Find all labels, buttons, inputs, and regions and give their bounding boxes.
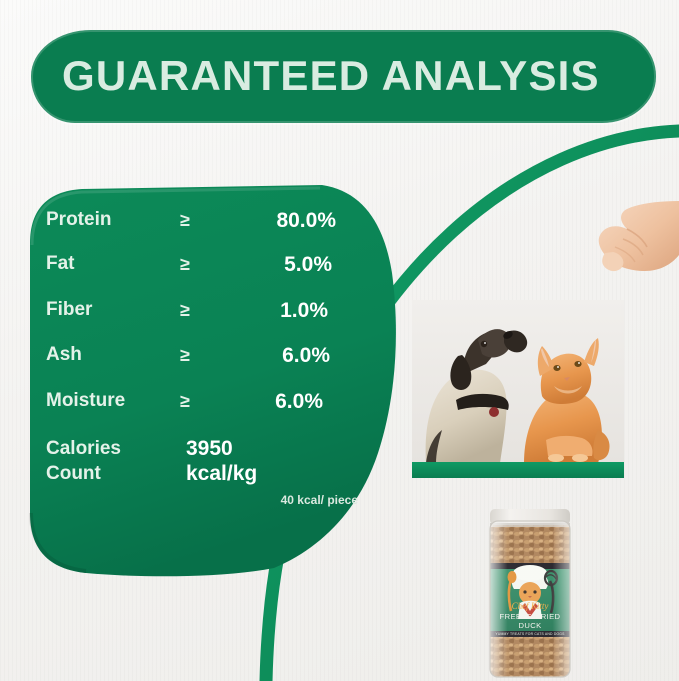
human-hand-icon — [575, 193, 679, 289]
guaranteed-analysis-panel: Protein ≥ 80.0% Fat ≥ 5.0% Fiber ≥ 1.0% … — [22, 183, 400, 578]
calories-label-line2: Count — [46, 461, 166, 486]
green-shelf-bar — [412, 462, 624, 478]
calories-label-line1: Calories — [46, 436, 166, 461]
infographic-canvas: GUARANTEED ANALYSIS Protein ≥ 80.0% Fat … — [0, 0, 679, 681]
table-row: Ash ≥ 6.0% — [46, 344, 376, 374]
product-jar: Chef Kitty FREEZE-DRIED DUCK YUMMY TREAT… — [484, 507, 576, 681]
calories-value-line1: 3950 — [186, 436, 336, 461]
calories-value: 3950 kcal/kg — [186, 436, 336, 486]
nutrient-value: 5.0% — [46, 253, 332, 277]
nutrient-value: 1.0% — [46, 299, 328, 323]
nutrient-value: 6.0% — [46, 390, 323, 414]
calories-value-line2: kcal/kg — [186, 461, 336, 486]
calories-row: Calories Count 3950 kcal/kg 40 kcal/ pie… — [46, 436, 376, 526]
page-title: GUARANTEED ANALYSIS — [62, 47, 642, 105]
nutrient-value: 80.0% — [46, 209, 336, 233]
calories-label: Calories Count — [46, 436, 166, 486]
table-row: Moisture ≥ 6.0% — [46, 390, 376, 420]
table-row: Fiber ≥ 1.0% — [46, 299, 376, 329]
nutrient-value: 6.0% — [46, 344, 330, 368]
table-row: Fat ≥ 5.0% — [46, 253, 376, 283]
dog-and-cat-photo — [412, 300, 624, 463]
calories-per-piece-note: 40 kcal/ piece — [186, 493, 358, 507]
nutrient-rows: Protein ≥ 80.0% Fat ≥ 5.0% Fiber ≥ 1.0% … — [22, 183, 400, 578]
table-row: Protein ≥ 80.0% — [46, 209, 376, 239]
